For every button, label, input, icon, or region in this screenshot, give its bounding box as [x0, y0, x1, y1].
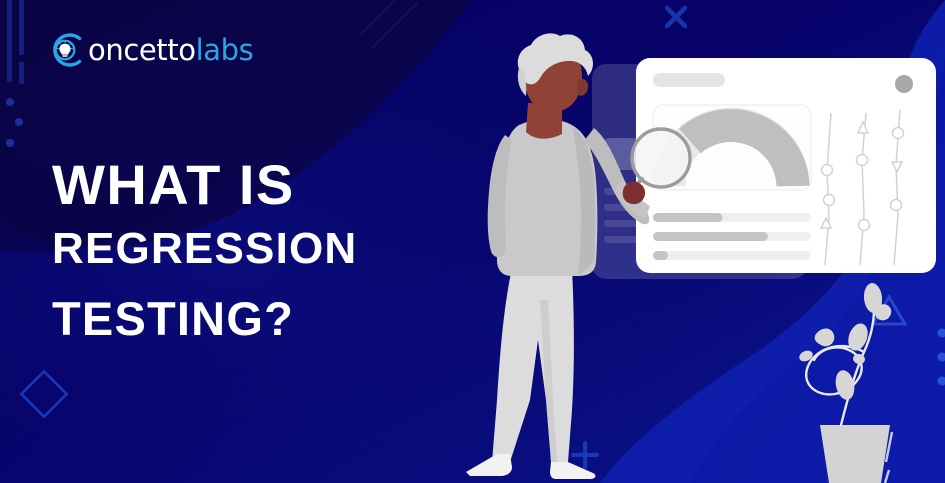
person-ear [577, 79, 588, 96]
dashboard-title-pill [653, 73, 725, 87]
progress-bar-fill-1 [653, 213, 723, 222]
magnifier-grip-hand [623, 182, 645, 205]
page-title: WHAT IS REGRESSION TESTING? [52, 155, 357, 354]
plant-leaf-1 [833, 368, 857, 401]
plant-leaf-2 [845, 321, 871, 353]
plant-leaf-4 [815, 328, 835, 346]
headline-line-2: REGRESSION [52, 215, 357, 283]
brand-logo-text: oncettolabs [88, 36, 253, 65]
progress-bar-track-1 [653, 213, 811, 222]
progress-bar-fill-3 [653, 251, 668, 260]
headline-line-1: WHAT IS [52, 155, 357, 215]
lightbulb-in-c-ring-icon [48, 30, 88, 70]
brand-name-accent: labs [196, 33, 254, 67]
person-shoe-right [550, 462, 595, 479]
progress-bar-track-2 [653, 232, 811, 241]
person-shoe-left [466, 454, 512, 476]
progress-bar-fill-2 [653, 232, 768, 241]
progress-bar-track-3 [653, 251, 811, 260]
dashboard-avatar-dot[interactable] [895, 75, 913, 93]
person-pants [492, 268, 574, 462]
banner-root: oncettolabs WHAT IS REGRESSION TESTING? [0, 0, 945, 483]
brand-logo[interactable]: oncettolabs [48, 28, 253, 72]
plant-pot [820, 425, 890, 483]
headline-line-3: TESTING? [52, 284, 357, 355]
potted-plant-icon [798, 282, 892, 483]
brand-name-dark: oncetto [88, 33, 196, 67]
plant-leaf-5 [875, 304, 892, 320]
